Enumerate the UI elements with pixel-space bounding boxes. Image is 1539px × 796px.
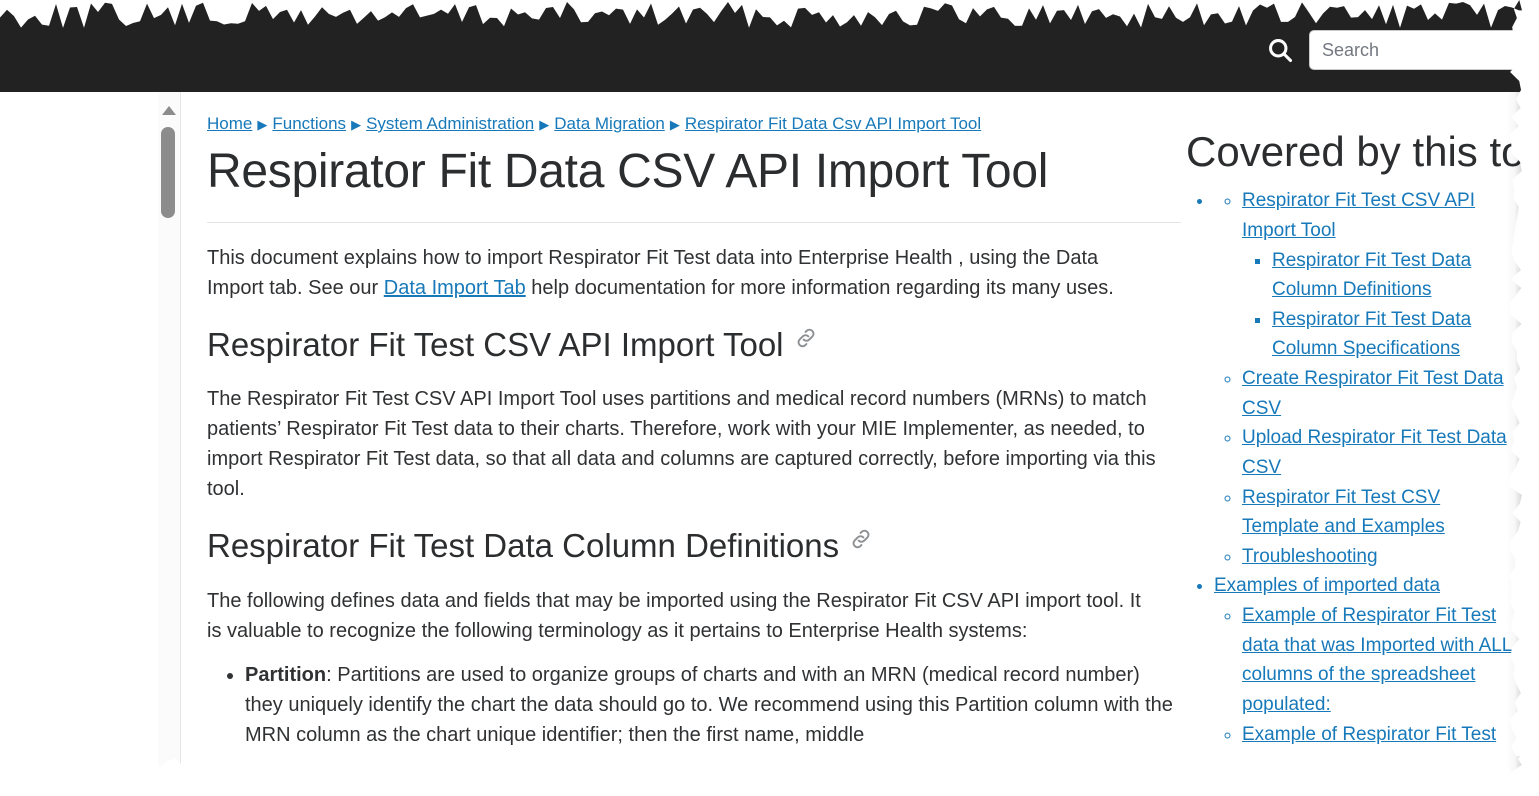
intro-paragraph: This document explains how to import Res… bbox=[207, 243, 1159, 303]
sidebar-item-6[interactable]: agement bbox=[0, 628, 154, 650]
list-item[interactable]: Troubleshooting bbox=[1242, 542, 1522, 572]
sidebar-item-3[interactable]: emenu bbox=[0, 408, 154, 430]
breadcrumb: Home▶Functions▶System Administration▶Dat… bbox=[207, 114, 1181, 134]
toc-panel: Covered by this topic Respirator Fit Tes… bbox=[1186, 92, 1522, 778]
list-item[interactable]: Respirator Fit Test Data Column Specific… bbox=[1272, 305, 1522, 364]
nav-scrollbar[interactable] bbox=[158, 92, 181, 778]
toc-group-2[interactable]: Examples of imported data Example of Res… bbox=[1214, 571, 1522, 749]
scroll-thumb[interactable] bbox=[161, 127, 175, 218]
intro-text-after: help documentation for more information … bbox=[526, 277, 1114, 299]
toc-link-examples-of-imported-data[interactable]: Examples of imported data bbox=[1214, 575, 1440, 596]
toc-link-create-csv[interactable]: Create Respirator Fit Test Data CSV bbox=[1242, 368, 1504, 419]
link-anchor-icon[interactable] bbox=[794, 326, 818, 350]
title-divider bbox=[207, 222, 1181, 223]
list-item: Partition: Partitions are used to organi… bbox=[245, 660, 1175, 750]
breadcrumb-separator-icon: ▶ bbox=[670, 117, 680, 132]
section-heading-text: Respirator Fit Test CSV API Import Tool bbox=[207, 326, 784, 363]
list-item[interactable]: Respirator Fit Test CSV Template and Exa… bbox=[1242, 483, 1522, 542]
list-item[interactable]: Example of Respirator Fit Test data that… bbox=[1242, 601, 1522, 720]
terminology-list: Partition: Partitions are used to organi… bbox=[207, 660, 1181, 750]
toc-list: Respirator Fit Test CSV API Import Tool … bbox=[1186, 186, 1522, 749]
sidebar-item-5[interactable]: ation bbox=[0, 573, 154, 595]
toc-link-troubleshooting[interactable]: Troubleshooting bbox=[1242, 546, 1378, 567]
sidebar-item-7[interactable]: ment bbox=[0, 738, 154, 760]
breadcrumb-separator-icon: ▶ bbox=[351, 117, 361, 132]
breadcrumb-item-home[interactable]: Home bbox=[207, 114, 252, 133]
term-partition: Partition bbox=[245, 664, 326, 686]
screenshot-root: tem d emenu ence ation agement ment Home… bbox=[0, 0, 1539, 796]
torn-page-frame: tem d emenu ence ation agement ment Home… bbox=[0, 0, 1522, 778]
toc-link-upload-csv[interactable]: Upload Respirator Fit Test Data CSV bbox=[1242, 427, 1507, 478]
data-import-tab-link[interactable]: Data Import Tab bbox=[384, 277, 526, 299]
toc-sublist-2: Example of Respirator Fit Test data that… bbox=[1214, 601, 1522, 749]
toc-link-template-examples[interactable]: Respirator Fit Test CSV Template and Exa… bbox=[1242, 487, 1445, 538]
toc-link-example-all-columns[interactable]: Example of Respirator Fit Test data that… bbox=[1242, 605, 1512, 715]
breadcrumb-item-current[interactable]: Respirator Fit Data Csv API Import Tool bbox=[685, 114, 981, 133]
toc-link-import-tool[interactable]: Respirator Fit Test CSV API Import Tool bbox=[1242, 190, 1475, 241]
list-item[interactable]: Upload Respirator Fit Test Data CSV bbox=[1242, 423, 1522, 482]
breadcrumb-separator-icon: ▶ bbox=[539, 117, 549, 132]
list-item[interactable]: Respirator Fit Test Data Column Definiti… bbox=[1272, 246, 1522, 305]
search-icon[interactable] bbox=[1266, 36, 1294, 64]
list-item[interactable]: Example of Respirator Fit Test bbox=[1242, 720, 1522, 750]
breadcrumb-item-data-migration[interactable]: Data Migration bbox=[554, 114, 665, 133]
toc-title: Covered by this topic bbox=[1186, 128, 1522, 176]
section-heading-column-definitions: Respirator Fit Test Data Column Definiti… bbox=[207, 526, 1181, 566]
page-body: tem d emenu ence ation agement ment Home… bbox=[0, 92, 1522, 778]
document-column: Home▶Functions▶System Administration▶Dat… bbox=[181, 92, 1181, 778]
toc-link-column-definitions[interactable]: Respirator Fit Test Data Column Definiti… bbox=[1272, 250, 1471, 301]
section-paragraph-import-tool: The Respirator Fit Test CSV API Import T… bbox=[207, 384, 1159, 504]
breadcrumb-separator-icon: ▶ bbox=[257, 117, 267, 132]
toc-link-column-specifications[interactable]: Respirator Fit Test Data Column Specific… bbox=[1272, 309, 1471, 360]
toc-group-1: Respirator Fit Test CSV API Import Tool … bbox=[1214, 186, 1522, 571]
breadcrumb-item-functions[interactable]: Functions bbox=[272, 114, 346, 133]
list-item[interactable]: Respirator Fit Test CSV API Import Tool … bbox=[1242, 186, 1522, 364]
toc-sublist-1-1: Respirator Fit Test Data Column Definiti… bbox=[1242, 246, 1522, 365]
page-title: Respirator Fit Data CSV API Import Tool bbox=[207, 144, 1181, 199]
section-heading-text: Respirator Fit Test Data Column Definiti… bbox=[207, 527, 839, 564]
sidebar-item-1[interactable]: tem bbox=[0, 238, 154, 260]
sidebar-item-4[interactable]: ence bbox=[0, 463, 154, 485]
top-header-bar bbox=[0, 0, 1522, 92]
search-input[interactable] bbox=[1309, 30, 1522, 70]
link-anchor-icon[interactable] bbox=[849, 527, 873, 551]
breadcrumb-item-system-administration[interactable]: System Administration bbox=[366, 114, 534, 133]
toc-sublist-1: Respirator Fit Test CSV API Import Tool … bbox=[1214, 186, 1522, 571]
toc-link-example-second[interactable]: Example of Respirator Fit Test bbox=[1242, 724, 1496, 745]
sidebar-item-2[interactable]: d bbox=[0, 323, 154, 345]
section-paragraph-column-definitions: The following defines data and fields th… bbox=[207, 586, 1159, 646]
left-nav-panel: tem d emenu ence ation agement ment bbox=[0, 92, 158, 778]
term-partition-description: : Partitions are used to organize groups… bbox=[245, 664, 1173, 746]
list-item[interactable]: Create Respirator Fit Test Data CSV bbox=[1242, 364, 1522, 423]
section-heading-import-tool: Respirator Fit Test CSV API Import Tool bbox=[207, 325, 1181, 365]
triangle-up-icon[interactable] bbox=[162, 106, 176, 115]
